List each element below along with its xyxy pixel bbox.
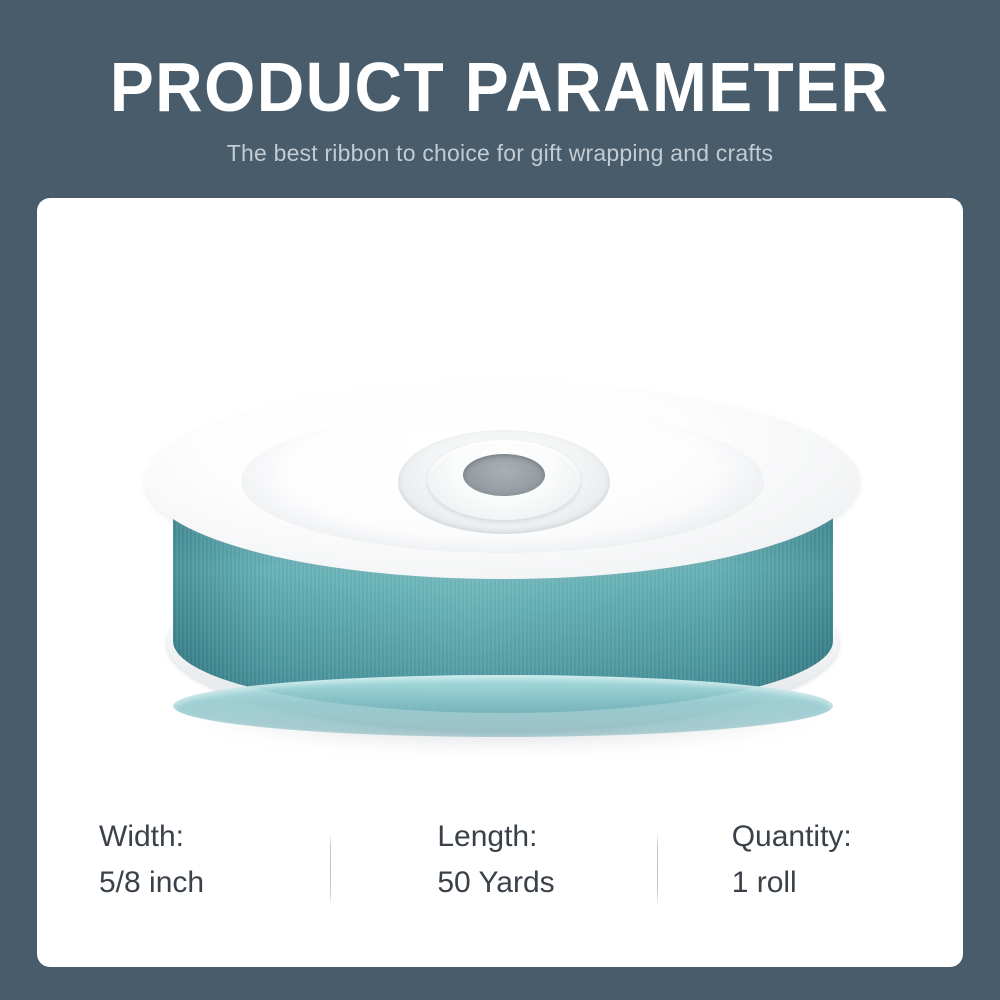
spec-label: Quantity: bbox=[732, 817, 963, 857]
spool-center-hole bbox=[463, 454, 545, 496]
spec-value: 50 Yards bbox=[437, 863, 656, 903]
ribbon-spool-icon bbox=[145, 383, 860, 758]
spec-row: Width: 5/8 inch Length: 50 Yards Quantit… bbox=[37, 799, 963, 967]
infographic-page: PRODUCT PARAMETER The best ribbon to cho… bbox=[0, 0, 1000, 1000]
spec-value: 1 roll bbox=[732, 863, 963, 903]
content-card: Width: 5/8 inch Length: 50 Yards Quantit… bbox=[37, 198, 963, 967]
page-subtitle: The best ribbon to choice for gift wrapp… bbox=[227, 140, 773, 167]
spec-item-width: Width: 5/8 inch bbox=[37, 817, 330, 902]
spec-value: 5/8 inch bbox=[99, 863, 330, 903]
product-image bbox=[37, 198, 963, 798]
spec-label: Length: bbox=[437, 817, 656, 857]
spec-item-quantity: Quantity: 1 roll bbox=[658, 817, 963, 902]
page-title: PRODUCT PARAMETER bbox=[110, 52, 889, 122]
spec-item-length: Length: 50 Yards bbox=[331, 817, 656, 902]
spec-label: Width: bbox=[99, 817, 330, 857]
header-banner: PRODUCT PARAMETER The best ribbon to cho… bbox=[0, 0, 1000, 198]
